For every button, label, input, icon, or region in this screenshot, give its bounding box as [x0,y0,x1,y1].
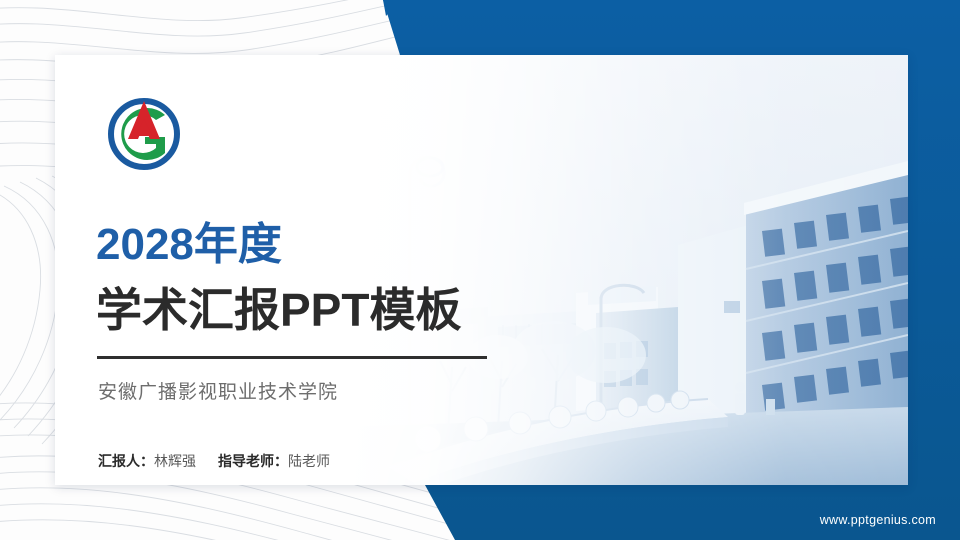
slide-title-year: 2028年度 [96,223,282,267]
slide-title-main: 学术汇报PPT模板 [96,287,461,333]
advisor-name: 陆老师 [288,453,330,469]
presenter-meta: 汇报人：林辉强指导老师：陆老师 [98,451,330,471]
presentation-slide: 2028年度 学术汇报PPT模板 安徽广播影视职业技术学院 汇报人：林辉强指导老… [0,0,960,540]
presenter-label: 汇报人： [98,453,154,469]
title-content: 2028年度 学术汇报PPT模板 安徽广播影视职业技术学院 汇报人：林辉强指导老… [96,55,516,485]
organization-name: 安徽广播影视职业技术学院 [98,377,338,404]
site-url[interactable]: www.pptgenius.com [820,513,936,527]
advisor-label: 指导老师： [218,453,288,469]
title-divider [97,356,487,359]
content-card: 2028年度 学术汇报PPT模板 安徽广播影视职业技术学院 汇报人：林辉强指导老… [55,55,908,485]
anhui-college-logo-icon [98,93,194,175]
presenter-name: 林辉强 [154,453,196,469]
